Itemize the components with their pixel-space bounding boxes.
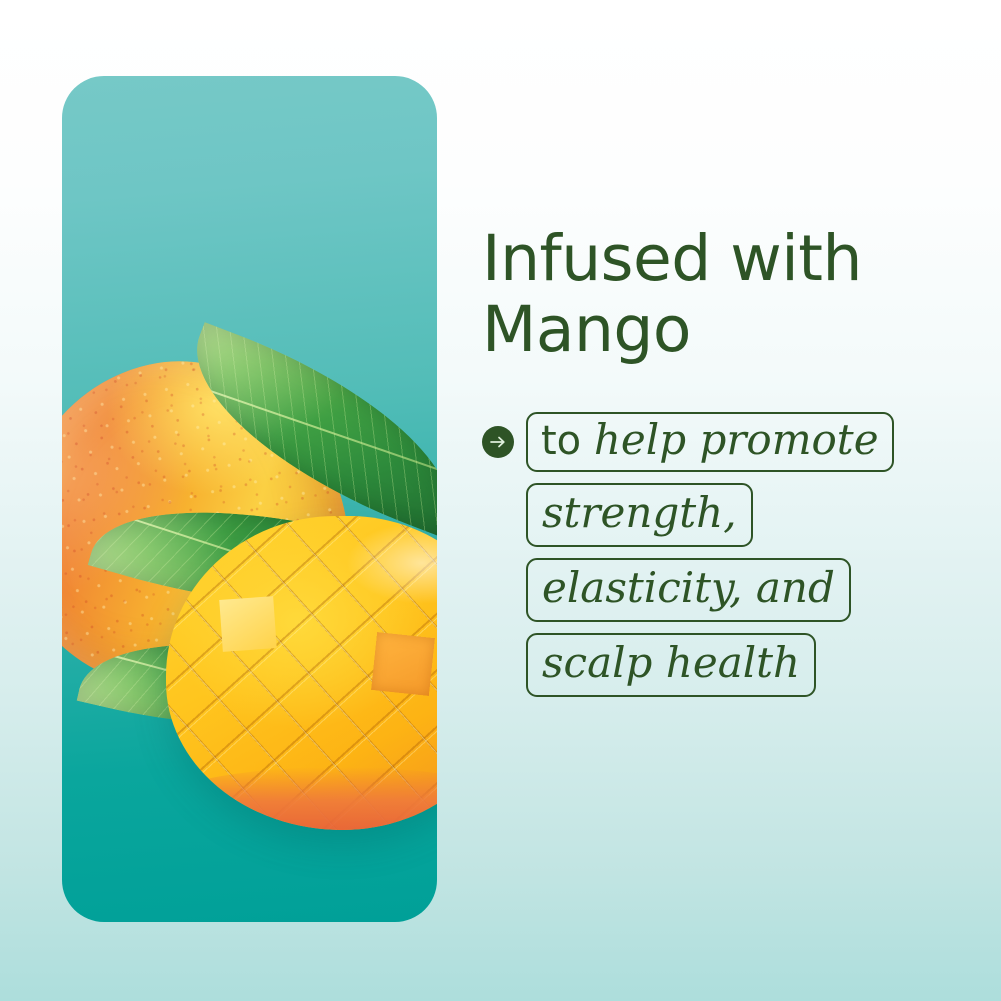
cubed-mango-half <box>166 516 437 830</box>
benefit-pill-text: elasticity, and <box>542 563 835 612</box>
mango-cube-accent <box>371 632 435 696</box>
page-title: Infused withMango <box>482 224 952 365</box>
arrow-right-icon <box>482 426 514 458</box>
benefit-pill: to help promote <box>526 412 894 472</box>
benefit-row: scalp health <box>526 633 962 697</box>
headline-line-1: Infused with <box>482 222 862 295</box>
promo-card: Infused withMango to help promote streng… <box>0 0 1001 1001</box>
benefit-pill-prefix: to <box>541 418 594 464</box>
benefit-row: strength, <box>526 483 962 547</box>
benefit-pill-text: strength, <box>542 488 737 537</box>
benefit-row: elasticity, and <box>526 558 962 622</box>
mango-photo <box>62 76 437 922</box>
headline-line-2: Mango <box>482 293 691 366</box>
mango-cube-accent <box>220 596 277 652</box>
benefit-row-primary: to help promote <box>482 412 962 472</box>
benefit-pill: elasticity, and <box>526 558 851 622</box>
benefit-pill: strength, <box>526 483 753 547</box>
benefit-pill: scalp health <box>526 633 816 697</box>
benefit-list: to help promote strength, elasticity, an… <box>482 412 962 697</box>
mango-image-panel <box>62 76 437 922</box>
benefit-pill-text: help promote <box>594 415 879 464</box>
benefit-pill-text: scalp health <box>542 638 800 687</box>
copy-column: Infused withMango to help promote streng… <box>482 0 962 1001</box>
